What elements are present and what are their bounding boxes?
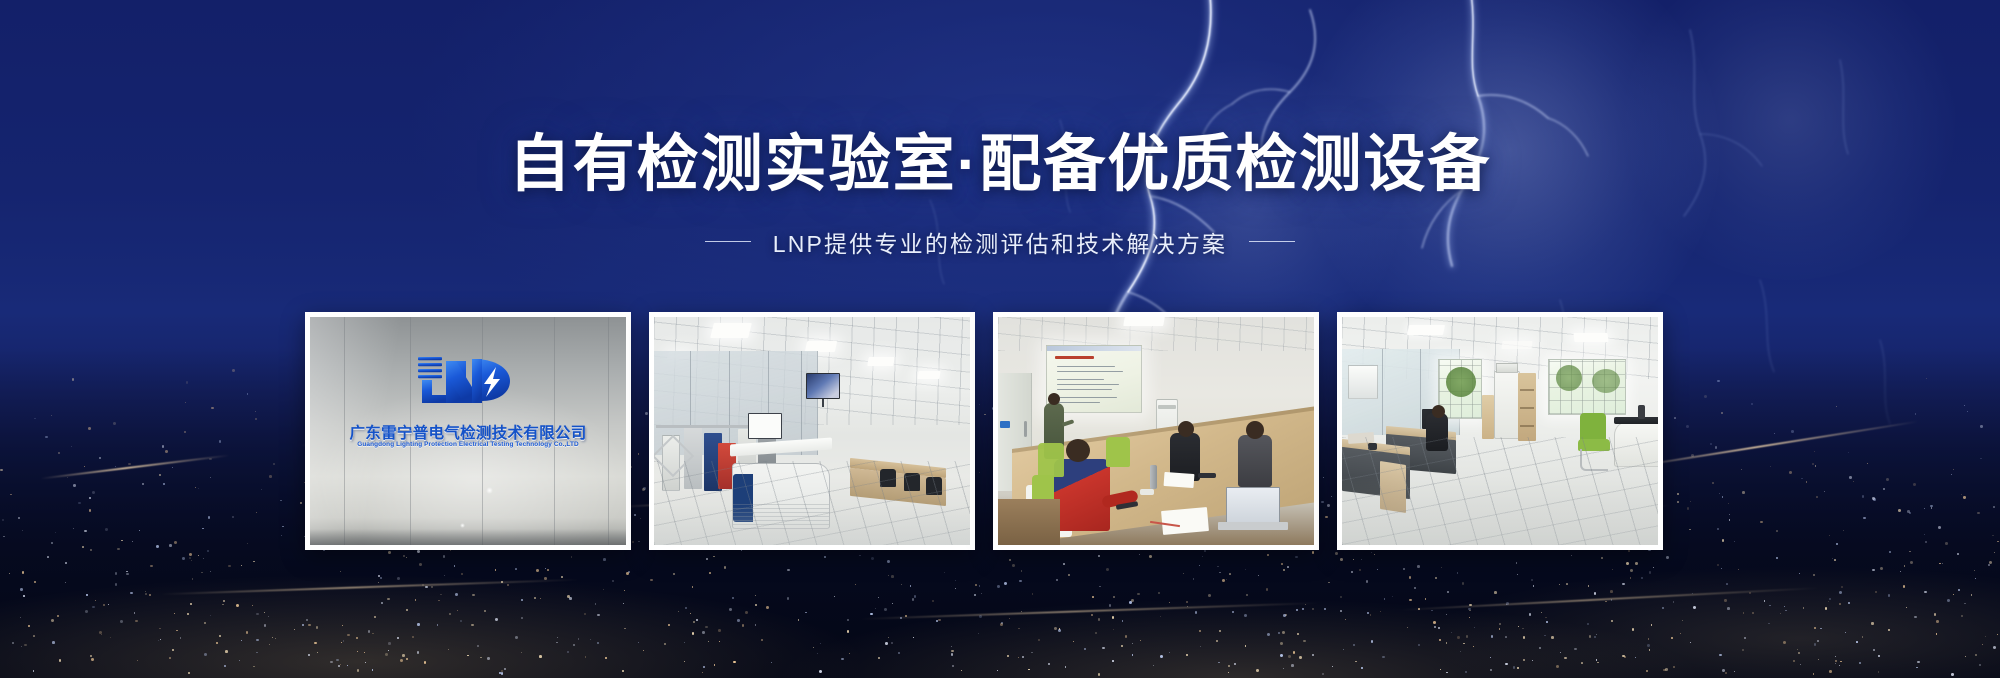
city-light [597, 614, 600, 617]
city-light [78, 502, 81, 505]
city-light [397, 637, 400, 640]
city-light [1281, 563, 1283, 565]
city-light [1845, 632, 1847, 634]
city-light [1208, 594, 1211, 597]
city-light [343, 640, 345, 642]
city-light [1374, 554, 1375, 555]
city-light [256, 639, 259, 642]
city-light [139, 530, 140, 531]
city-light [1367, 612, 1369, 614]
city-light [1780, 613, 1782, 615]
city-light [955, 580, 956, 581]
city-light [1531, 579, 1533, 581]
city-light [1199, 630, 1201, 632]
city-light [437, 624, 439, 626]
city-light [755, 624, 757, 626]
city-light [1022, 656, 1024, 658]
city-light [1244, 614, 1247, 617]
city-light [1312, 654, 1314, 656]
city-light [477, 645, 479, 647]
city-light [347, 665, 348, 666]
city-light [1234, 663, 1236, 665]
city-light [1744, 637, 1746, 639]
city-light [997, 585, 1000, 588]
city-light [172, 649, 174, 651]
city-light [182, 557, 185, 560]
city-light [1961, 615, 1963, 617]
city-light [612, 580, 614, 582]
city-light [1193, 578, 1194, 579]
city-light [1816, 496, 1818, 498]
city-light [1054, 627, 1057, 630]
city-light [1109, 604, 1112, 607]
city-light [1222, 579, 1225, 582]
storage-cabinet [1494, 371, 1520, 439]
city-light [1967, 411, 1969, 413]
city-light [232, 516, 234, 518]
city-light [1769, 605, 1770, 606]
city-light [1228, 665, 1231, 668]
city-light [137, 660, 139, 662]
hero-text-block: 自有检测实验室·配备优质检测设备 LNP提供专业的检测评估和技术解决方案 [0, 132, 2000, 259]
rule-left-icon [705, 241, 751, 242]
city-light [624, 628, 625, 629]
city-light [547, 569, 549, 571]
person-head [1432, 405, 1445, 418]
city-light [692, 586, 694, 588]
city-light [1776, 557, 1779, 560]
city-light [1587, 623, 1589, 625]
city-light [1611, 599, 1613, 601]
city-light [1283, 668, 1284, 669]
city-light [1278, 632, 1281, 635]
thermos-cup [1150, 465, 1157, 489]
city-light [67, 477, 68, 478]
city-light [417, 651, 420, 654]
city-light [724, 566, 727, 569]
city-light [378, 582, 380, 584]
city-light [1113, 629, 1114, 630]
city-light [1646, 670, 1648, 672]
city-light [1848, 452, 1849, 453]
city-light [210, 615, 212, 617]
city-light [126, 573, 129, 576]
city-light [693, 621, 695, 623]
city-light [1158, 592, 1160, 594]
city-light [1418, 608, 1420, 610]
city-light [1900, 571, 1901, 572]
city-light [115, 466, 116, 467]
city-light [1649, 571, 1651, 573]
city-light [1541, 612, 1543, 614]
city-light [1438, 627, 1440, 629]
city-light [817, 653, 818, 654]
city-light [145, 593, 147, 595]
city-light [1312, 608, 1315, 611]
city-light [208, 516, 210, 518]
table-item [1140, 489, 1154, 495]
city-light [1690, 642, 1691, 643]
city-light [1098, 618, 1101, 621]
city-light [1982, 644, 1983, 645]
city-light [569, 597, 572, 600]
door-handle[interactable] [1024, 421, 1027, 437]
city-light [875, 608, 876, 609]
city-light [1092, 596, 1094, 598]
city-light [1964, 405, 1965, 406]
city-light [1517, 574, 1518, 575]
city-light [585, 656, 586, 657]
gallery-item-testing-laboratory[interactable] [649, 312, 975, 550]
city-light [176, 630, 178, 632]
wood-floor [998, 499, 1060, 545]
city-light [149, 594, 151, 596]
city-light [1513, 666, 1516, 669]
city-light [1113, 596, 1115, 598]
city-light [1980, 458, 1981, 459]
city-light [690, 613, 692, 615]
city-light [232, 369, 235, 372]
city-light [787, 569, 789, 571]
city-light [443, 555, 446, 558]
city-light [1505, 636, 1507, 638]
city-light [1824, 491, 1825, 492]
subtitle-row: LNP提供专业的检测评估和技术解决方案 [0, 225, 2000, 259]
city-light [1632, 628, 1635, 631]
city-light [540, 598, 541, 599]
city-light [1776, 530, 1778, 532]
city-light [480, 657, 482, 659]
city-light [521, 617, 523, 619]
hero-banner: 自有检测实验室·配备优质检测设备 LNP提供专业的检测评估和技术解决方案 [0, 0, 2000, 678]
city-light [1106, 568, 1109, 571]
city-light [1280, 642, 1283, 645]
city-light [273, 463, 275, 465]
city-light [1836, 406, 1837, 407]
city-light [1068, 574, 1070, 576]
city-light [342, 625, 343, 626]
city-light [885, 642, 888, 645]
city-light [1829, 535, 1830, 536]
city-light [1267, 554, 1270, 557]
city-light [1474, 627, 1475, 628]
city-light [18, 517, 20, 519]
city-light [406, 658, 408, 660]
city-light [207, 550, 209, 552]
door-sign [1000, 421, 1010, 428]
city-light [1440, 669, 1441, 670]
city-light [1677, 501, 1679, 503]
city-light [65, 582, 66, 583]
projection-screen [1046, 345, 1142, 413]
city-light [1693, 606, 1696, 609]
city-light [1200, 646, 1201, 647]
city-light [1742, 649, 1744, 651]
city-light [638, 642, 640, 644]
wall-reflection-spot [460, 523, 465, 528]
city-light [1806, 481, 1808, 483]
city-light [1139, 554, 1140, 555]
city-light [425, 586, 428, 589]
city-light [1843, 530, 1844, 531]
city-light [51, 619, 54, 622]
city-light [1889, 551, 1892, 554]
city-light [1883, 488, 1885, 490]
city-light [623, 603, 624, 604]
city-light [192, 578, 194, 580]
city-light [1710, 443, 1712, 445]
city-light [1886, 478, 1889, 481]
city-light [1343, 649, 1344, 650]
city-light [190, 603, 192, 605]
city-light [1229, 573, 1231, 575]
city-light [1000, 623, 1003, 626]
city-light [571, 556, 572, 557]
city-light [1853, 481, 1854, 482]
city-light [1102, 647, 1105, 650]
city-light [745, 611, 748, 614]
gallery-item-training-meeting-room[interactable] [993, 312, 1319, 550]
city-light [1873, 649, 1875, 651]
city-light [1425, 598, 1427, 600]
gallery-item-company-signage[interactable]: 广东雷宁普电气检测技术有限公司 Guangdong Lighting Prote… [305, 312, 631, 550]
city-light [269, 644, 270, 645]
city-light [1630, 569, 1633, 572]
city-light [52, 641, 55, 644]
city-light [1447, 591, 1449, 593]
city-light [1589, 635, 1592, 638]
city-light [294, 629, 295, 630]
ceiling-vent [1573, 333, 1608, 342]
city-light [1784, 606, 1785, 607]
city-light [1340, 558, 1343, 561]
ceiling-panel-light [917, 371, 940, 379]
city-light [1256, 669, 1259, 672]
city-light [1803, 607, 1805, 609]
city-light [1888, 594, 1891, 597]
city-light [1505, 663, 1507, 665]
city-light [121, 540, 122, 541]
city-light [210, 477, 211, 478]
city-light [1226, 579, 1227, 580]
city-light [1594, 592, 1597, 595]
city-light [150, 565, 152, 567]
city-light [101, 634, 102, 635]
city-light [1435, 577, 1437, 579]
city-light [1288, 655, 1291, 658]
person-attendee [1238, 435, 1272, 487]
city-light [1160, 616, 1161, 617]
city-light [472, 594, 475, 597]
city-light [905, 615, 907, 617]
city-light [892, 603, 893, 604]
city-light [241, 565, 242, 566]
gallery-item-open-office[interactable] [1337, 312, 1663, 550]
city-light [1862, 636, 1863, 637]
city-light [1295, 556, 1298, 559]
city-light [3, 536, 5, 538]
city-light [1494, 591, 1497, 594]
city-light [222, 604, 223, 605]
city-light [22, 571, 25, 574]
city-light [1058, 629, 1061, 632]
page-subtitle: LNP提供专业的检测评估和技术解决方案 [773, 225, 1228, 259]
city-light [406, 557, 407, 558]
city-light [1820, 628, 1822, 630]
city-light [1653, 567, 1654, 568]
city-light [1814, 451, 1816, 453]
city-light [1125, 635, 1128, 638]
photo-testing-laboratory [654, 317, 970, 545]
city-light [1303, 640, 1306, 643]
city-light [201, 572, 203, 574]
city-light [1934, 613, 1937, 616]
city-light [1282, 631, 1285, 634]
city-light [134, 612, 136, 614]
city-light [737, 619, 740, 622]
city-light [236, 604, 239, 607]
city-light [85, 610, 88, 613]
city-light [90, 549, 93, 552]
city-light [1828, 601, 1829, 602]
city-light [397, 577, 400, 580]
city-light [1581, 662, 1583, 664]
city-light [887, 560, 890, 563]
city-light [239, 660, 241, 662]
ceiling-panel-light [1501, 341, 1532, 349]
city-light [859, 555, 861, 557]
city-light [1366, 580, 1369, 583]
city-light [225, 650, 228, 653]
city-light [901, 584, 902, 585]
city-light [216, 642, 218, 644]
city-light [191, 560, 192, 561]
city-light [1989, 561, 1992, 564]
city-light [117, 548, 119, 550]
city-light [1975, 578, 1976, 579]
city-light [1958, 589, 1960, 591]
city-light [706, 558, 708, 560]
city-light [1490, 669, 1492, 671]
city-light [59, 659, 62, 662]
city-light [1729, 519, 1731, 521]
city-light [961, 670, 962, 671]
city-light [1871, 622, 1873, 624]
city-light [380, 577, 382, 579]
city-light [1218, 662, 1220, 664]
city-light [714, 664, 716, 666]
city-light [685, 607, 687, 609]
city-light [280, 500, 281, 501]
city-light [1457, 572, 1458, 573]
city-light [20, 588, 23, 591]
wall-seam [608, 317, 609, 545]
city-light [1463, 643, 1465, 645]
city-light [898, 652, 900, 654]
city-light [1361, 559, 1363, 561]
photo-company-signage: 广东雷宁普电气检测技术有限公司 Guangdong Lighting Prote… [310, 317, 626, 545]
city-light [1232, 611, 1234, 613]
city-light [422, 584, 424, 586]
document-paper [1161, 507, 1209, 535]
city-light [981, 593, 982, 594]
city-light [374, 616, 376, 618]
city-light [561, 576, 563, 578]
city-light [211, 407, 213, 409]
city-light [247, 543, 248, 544]
city-light [1095, 632, 1097, 634]
city-light [28, 625, 30, 627]
city-light [163, 483, 165, 485]
person-head [1178, 421, 1194, 437]
city-light [1957, 553, 1960, 556]
city-light [1380, 611, 1381, 612]
city-light [34, 581, 36, 583]
city-light [65, 562, 67, 564]
city-light [58, 452, 60, 454]
city-light [256, 512, 257, 513]
city-light [1131, 599, 1134, 602]
city-light [1371, 552, 1372, 553]
city-light-streak [1622, 421, 1919, 470]
city-light [198, 488, 199, 489]
city-light [1518, 626, 1519, 627]
city-light [1671, 637, 1674, 640]
city-light [504, 668, 506, 670]
city-light [1574, 648, 1577, 651]
city-light [1768, 623, 1769, 624]
city-light [1499, 628, 1501, 630]
city-light [1801, 478, 1803, 480]
city-light [2, 519, 4, 521]
city-light [185, 402, 186, 403]
city-light [913, 637, 914, 638]
city-light [708, 641, 709, 642]
city-light [99, 457, 101, 459]
city-light [719, 641, 720, 642]
city-light [431, 586, 433, 588]
city-light [1770, 466, 1771, 467]
city-light [92, 606, 94, 608]
city-light [798, 619, 800, 621]
city-light [1359, 569, 1361, 571]
city-light [1687, 507, 1689, 509]
city-light [1353, 559, 1354, 560]
ceiling-vent [1407, 325, 1445, 335]
city-light [84, 530, 86, 532]
city-light [855, 584, 856, 585]
city-light [684, 661, 685, 662]
city-light [1370, 614, 1371, 615]
city-light [300, 502, 303, 505]
city-light [1032, 593, 1033, 594]
city-light [1601, 557, 1602, 558]
city-light [388, 551, 391, 554]
city-light [169, 544, 172, 547]
laptop-screen [1226, 487, 1280, 523]
photo-open-office [1342, 317, 1658, 545]
city-light [702, 631, 705, 634]
city-light [1299, 656, 1302, 659]
city-light [771, 662, 772, 663]
city-light [1835, 656, 1836, 657]
city-light [1814, 627, 1816, 629]
city-light [406, 609, 408, 611]
city-light [457, 610, 459, 612]
city-light [1924, 508, 1925, 509]
city-light [1907, 510, 1910, 513]
city-light [974, 594, 976, 596]
